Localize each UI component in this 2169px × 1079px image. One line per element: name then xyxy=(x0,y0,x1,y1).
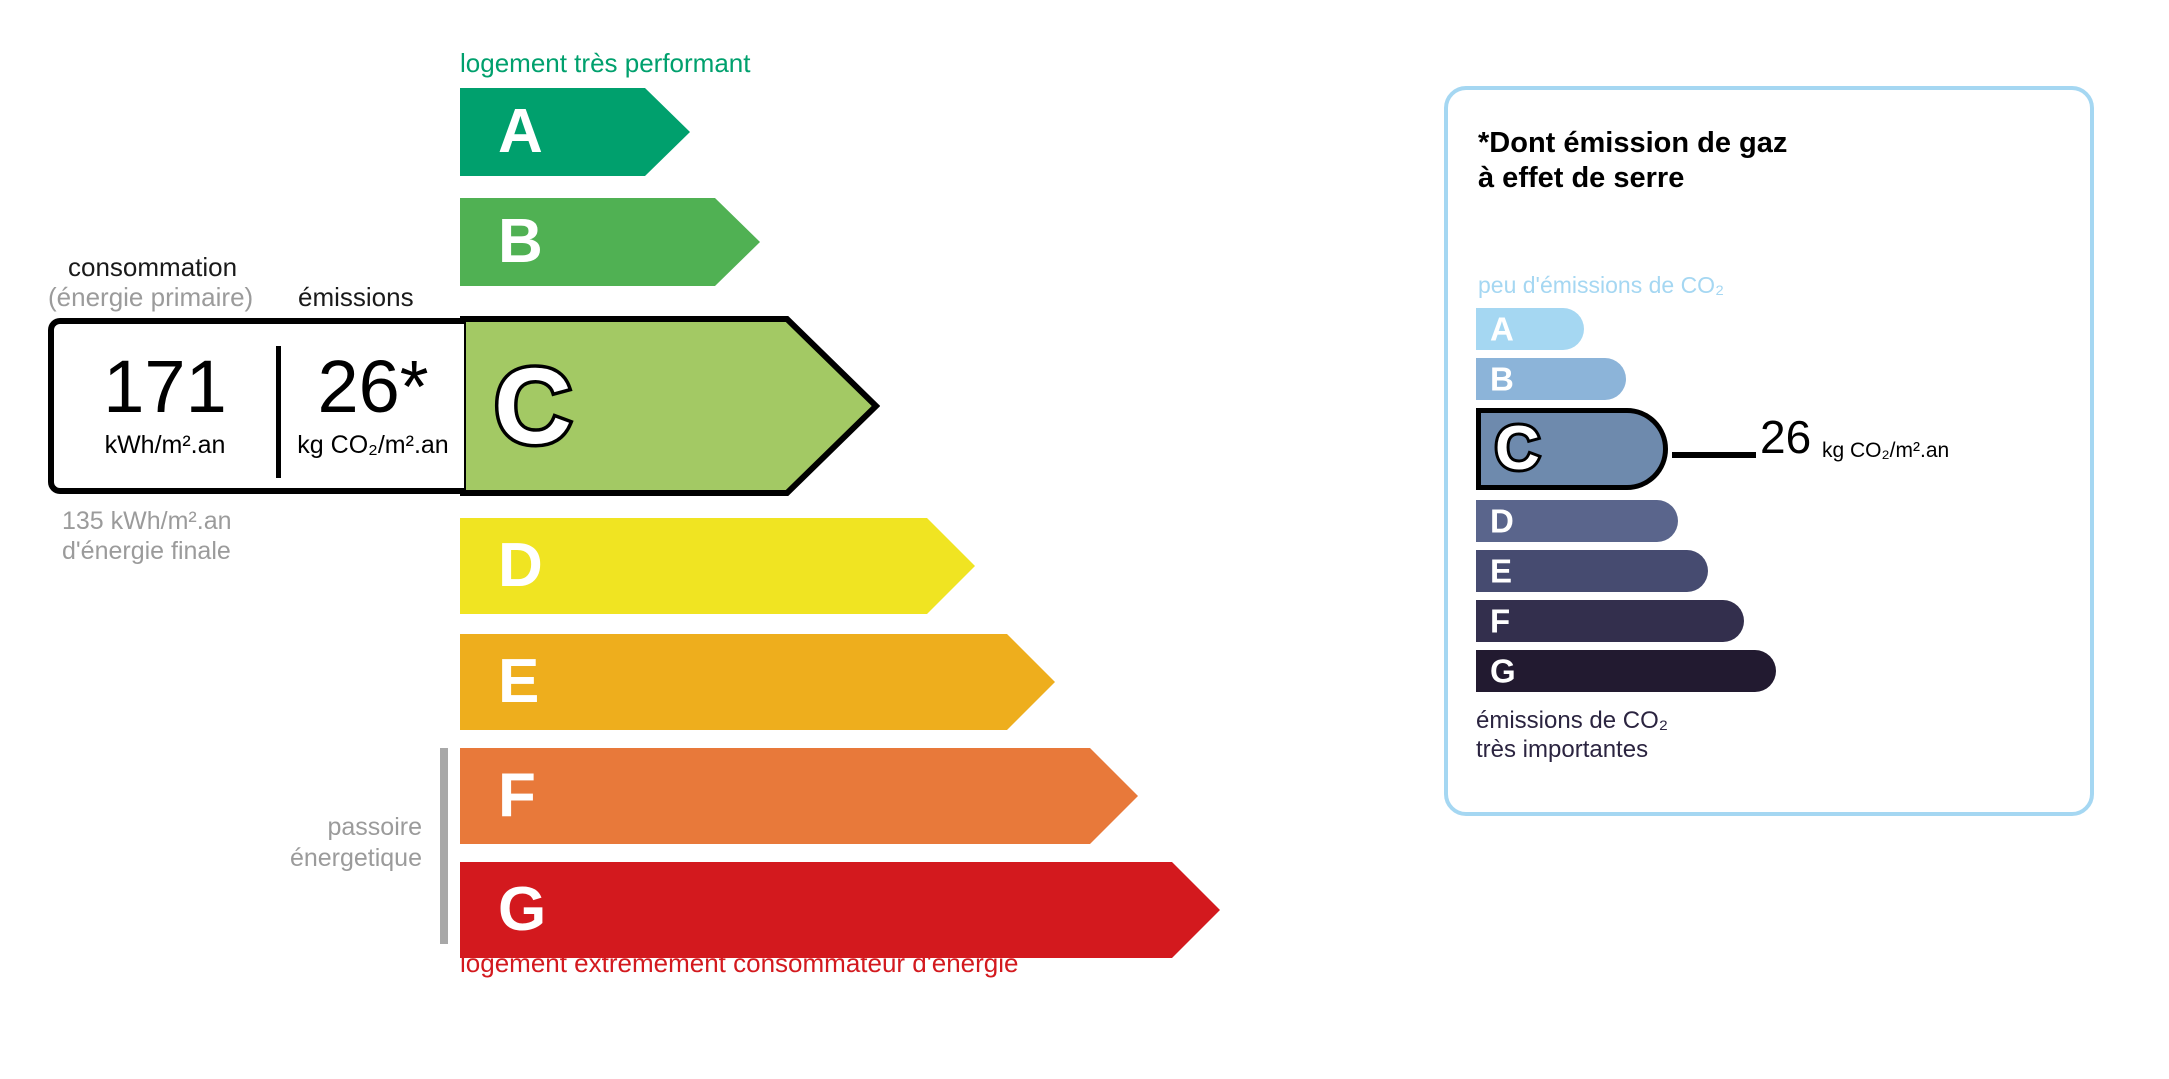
energy-class-letter-e: E xyxy=(498,651,539,713)
label-energie-primaire: (énergie primaire) xyxy=(48,282,253,313)
ges-bottom-caption: émissions de CO₂ très importantes xyxy=(1476,706,1668,765)
label-consommation: consommation xyxy=(68,252,237,283)
consumption-value-cell: 171 kWh/m².an xyxy=(54,324,276,488)
ges-class-letter-c: C xyxy=(1495,418,1540,480)
ges-class-letter-g: G xyxy=(1490,655,1516,688)
ges-class-letter-b: B xyxy=(1490,363,1514,396)
emission-unit: kg CO₂/m².an xyxy=(297,431,448,460)
ges-class-letter-a: A xyxy=(1490,313,1514,346)
ges-top-caption: peu d'émissions de CO₂ xyxy=(1478,272,1724,299)
energy-class-letter-b: B xyxy=(498,211,543,273)
ges-class-row-d: D xyxy=(1476,500,1678,542)
consumption-value: 171 xyxy=(103,352,226,422)
energy-performance-diagram: logement très performant A B C xyxy=(0,0,1400,1079)
ges-class-row-g: G xyxy=(1476,650,1776,692)
arrow-shape-e xyxy=(460,634,1055,730)
energy-class-row-f: F xyxy=(460,748,1138,844)
energy-class-letter-g: G xyxy=(498,879,546,941)
energy-arrow-c: C xyxy=(460,316,880,496)
energy-class-row-a: A xyxy=(460,88,690,176)
energy-arrow-a: A xyxy=(460,88,690,176)
ges-class-row-b: B xyxy=(1476,358,1626,400)
energy-class-letter-d: D xyxy=(498,535,543,597)
emission-value: 26* xyxy=(317,352,428,422)
consumption-unit: kWh/m².an xyxy=(105,431,226,460)
label-emissions: émissions xyxy=(298,282,414,313)
ges-class-row-a: A xyxy=(1476,308,1584,350)
energy-arrow-e: E xyxy=(460,634,1055,730)
arrow-shape-g xyxy=(460,862,1220,958)
ges-class-row-f: F xyxy=(1476,600,1744,642)
bottom-caption: logement extrêmement consommateur d'éner… xyxy=(460,948,1018,979)
final-energy-note: 135 kWh/m².an d'énergie finale xyxy=(62,506,232,566)
values-box: 171 kWh/m².an 26* kg CO₂/m².an xyxy=(48,318,464,494)
energy-class-row-g: G xyxy=(460,862,1220,958)
energy-class-row-b: B xyxy=(460,198,760,286)
ges-panel-title: *Dont émission de gaz à effet de serre xyxy=(1478,126,1787,196)
ges-class-row-e: E xyxy=(1476,550,1708,592)
passoire-energetique-label: passoire énergetique xyxy=(200,812,422,875)
top-caption: logement très performant xyxy=(460,48,750,79)
energy-class-letter-a: A xyxy=(498,101,543,163)
ges-class-letter-e: E xyxy=(1490,555,1512,588)
energy-class-row-e: E xyxy=(460,634,1055,730)
energy-class-row-c-selected: C xyxy=(460,316,880,496)
energy-arrow-b: B xyxy=(460,198,760,286)
ges-callout-leader-line xyxy=(1672,452,1756,458)
arrow-shape-a xyxy=(460,88,690,176)
energy-arrow-g: G xyxy=(460,862,1220,958)
ges-callout-unit: kg CO₂/m².an xyxy=(1822,440,1949,461)
energy-arrow-f: F xyxy=(460,748,1138,844)
arrow-shape-f xyxy=(460,748,1138,844)
emission-value-cell: 26* kg CO₂/m².an xyxy=(282,324,464,488)
value-divider xyxy=(276,346,281,478)
energy-class-letter-c: C xyxy=(494,352,572,460)
ges-class-letter-d: D xyxy=(1490,505,1514,538)
ges-class-row-c-selected: C xyxy=(1476,408,1668,490)
ges-callout-value: 26 xyxy=(1760,414,1811,460)
passoire-energetique-bar xyxy=(440,748,448,944)
energy-class-letter-f: F xyxy=(498,765,536,827)
energy-arrow-d: D xyxy=(460,518,975,614)
ges-class-letter-f: F xyxy=(1490,605,1510,638)
energy-class-row-d: D xyxy=(460,518,975,614)
